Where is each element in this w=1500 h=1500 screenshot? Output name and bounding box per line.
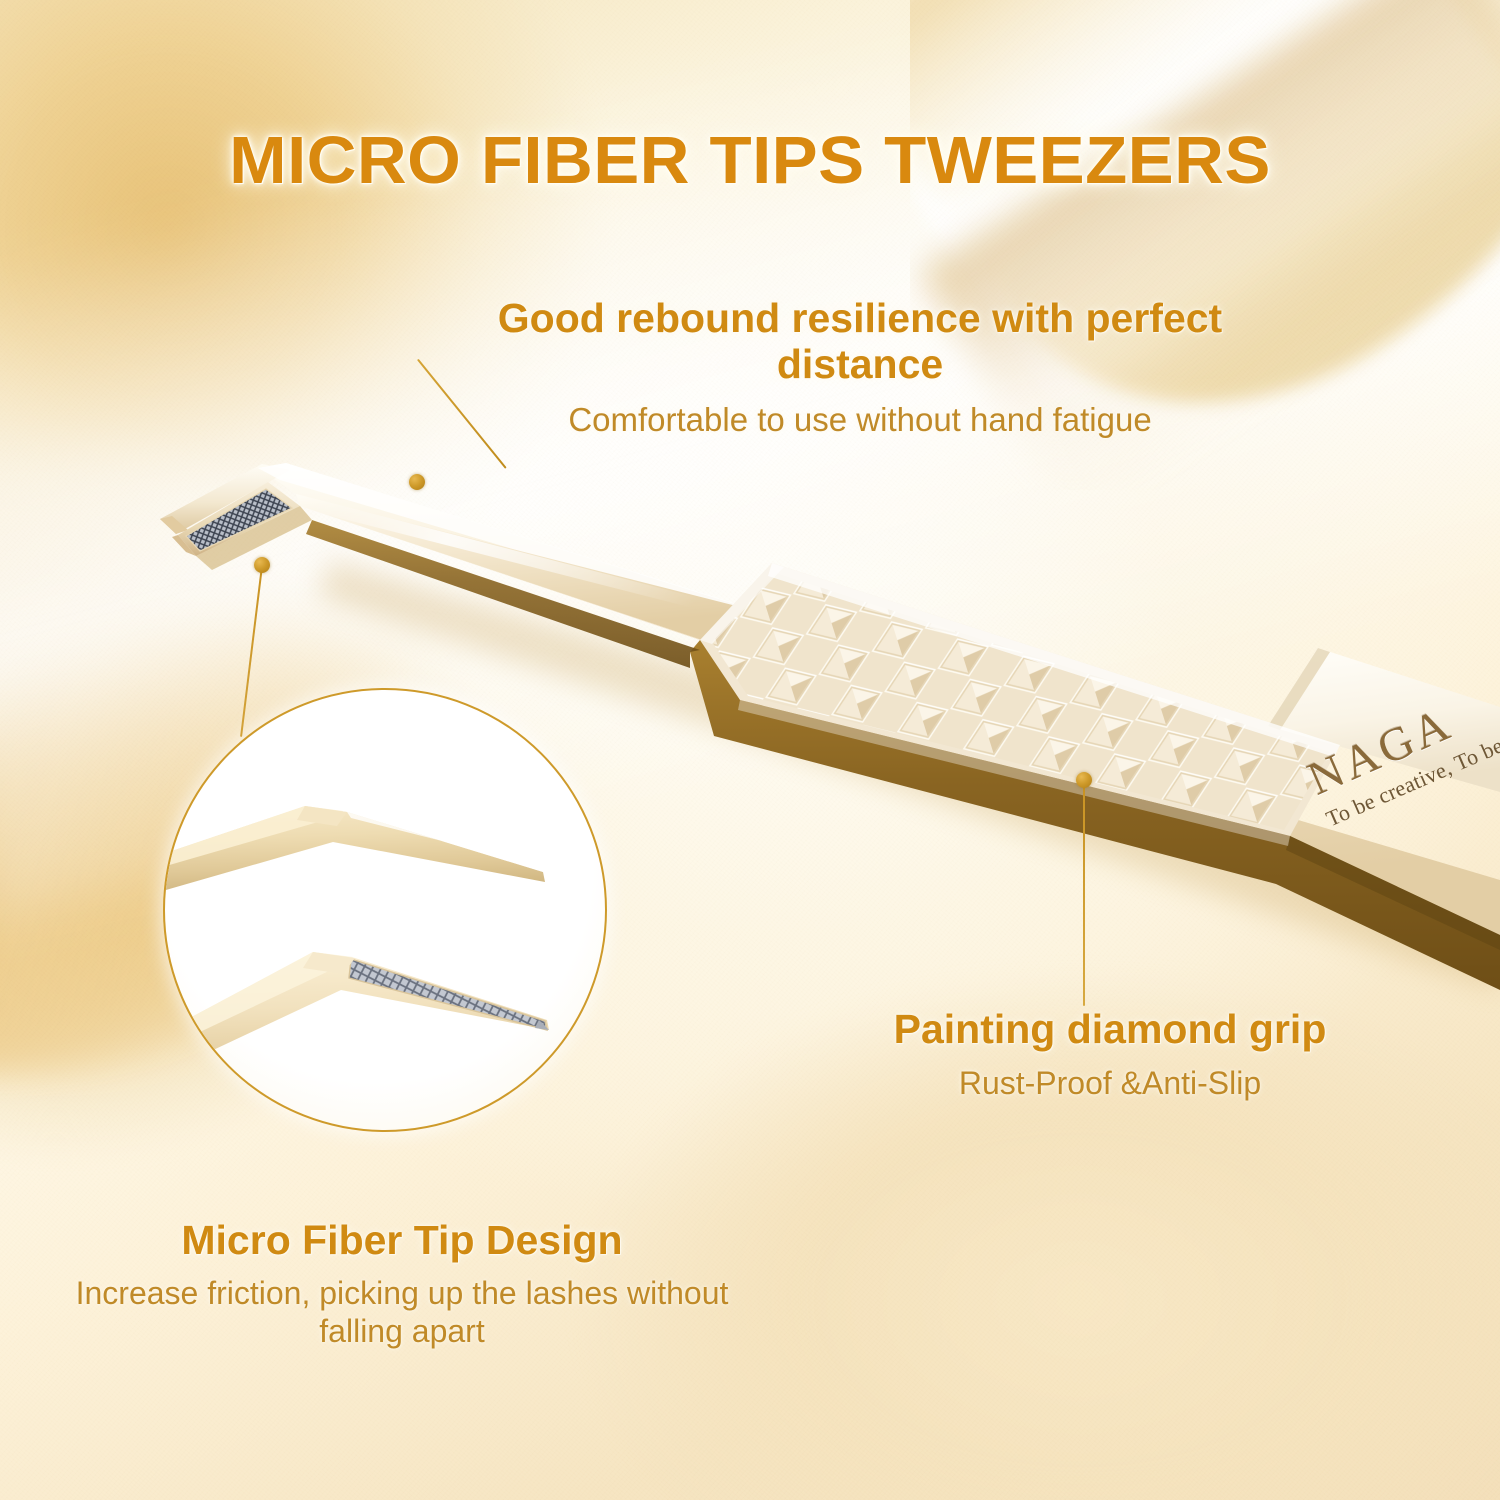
callout-grip-subtext: Rust-Proof &Anti-Slip — [790, 1064, 1430, 1102]
callout-rebound-heading: Good rebound resilience with perfect dis… — [455, 296, 1265, 388]
page-title: MICRO FIBER TIPS TWEEZERS — [0, 122, 1500, 199]
callout-tip-subtext: Increase friction, picking up the lashes… — [62, 1274, 742, 1351]
leader-line-grip — [1083, 780, 1085, 1006]
callout-diamond-grip: Painting diamond grip Rust-Proof &Anti-S… — [790, 1007, 1430, 1102]
inset-upper-arm — [165, 806, 545, 896]
callout-grip-heading: Painting diamond grip — [790, 1007, 1430, 1053]
leader-dot-grip — [1076, 772, 1092, 788]
callout-tip-heading: Micro Fiber Tip Design — [62, 1218, 742, 1264]
callout-rebound-subtext: Comfortable to use without hand fatigue — [455, 400, 1265, 440]
leader-dot-rebound — [409, 474, 425, 490]
tip-closeup-illustration — [165, 690, 605, 1130]
leader-dot-tip — [254, 557, 270, 573]
product-infographic: NAGA To be creative, To be — [0, 0, 1500, 1500]
tip-closeup-inset — [163, 688, 607, 1132]
callout-rebound-resilience: Good rebound resilience with perfect dis… — [455, 296, 1265, 439]
callout-micro-fiber-tip: Micro Fiber Tip Design Increase friction… — [62, 1218, 742, 1351]
